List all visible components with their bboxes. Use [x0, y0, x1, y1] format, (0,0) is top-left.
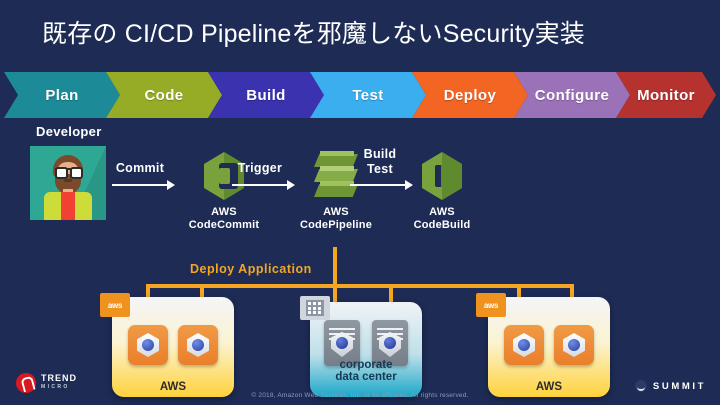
copyright-notice: © 2018, Amazon Web Services, Inc. or its…	[0, 392, 720, 399]
deep-security-agent-icon	[331, 332, 353, 357]
node-caption-line1: AWS	[394, 206, 490, 219]
pipeline-stage-label: Code	[144, 87, 183, 104]
instance-tile[interactable]	[128, 325, 168, 365]
deep-security-agent-icon	[513, 333, 535, 357]
pipeline-stage-deploy[interactable]: Deploy	[412, 72, 528, 118]
deep-security-agent-icon	[379, 332, 401, 357]
aws-badge-text: aws	[108, 301, 122, 310]
aws-codecommit-icon	[198, 150, 250, 202]
instance-tile[interactable]	[504, 325, 544, 365]
trigger-arrow-line	[232, 184, 288, 186]
deep-security-agent-icon	[137, 333, 159, 357]
pipeline-stage-label: Test	[352, 87, 383, 104]
pipeline-stage-label: Configure	[535, 87, 609, 104]
pipeline-stage-build[interactable]: Build	[208, 72, 324, 118]
node-caption-line2: CodeCommit	[176, 219, 272, 232]
commit-arrow-line	[112, 184, 168, 186]
pipeline-stage-test[interactable]: Test	[310, 72, 426, 118]
aws-badge-text: aws	[484, 301, 498, 310]
slide-canvas: 既存の CI/CD Pipelineを邪魔しないSecurity実装 Plan …	[0, 0, 720, 405]
summit-text: SUMMIT	[653, 381, 706, 392]
deep-security-agent-icon	[187, 333, 209, 357]
deploy-application-label: Deploy Application	[190, 262, 312, 276]
developer-avatar-icon	[30, 146, 106, 220]
pipeline-stage-monitor[interactable]: Monitor	[616, 72, 716, 118]
aws-logo-badge: aws	[100, 293, 130, 317]
node-caption-line1: AWS	[288, 206, 384, 219]
trend-micro-logo: TREND MICRO	[16, 373, 77, 393]
pipeline-stage-label: Monitor	[637, 87, 695, 104]
developer-label: Developer	[36, 124, 102, 139]
environment-aws-right[interactable]: AWS	[488, 297, 610, 397]
page-title: 既存の CI/CD Pipelineを邪魔しないSecurity実装	[42, 14, 682, 54]
pipeline-stage-plan[interactable]: Plan	[4, 72, 120, 118]
node-caption-line2: CodePipeline	[288, 219, 384, 232]
pipeline-stage-label: Build	[246, 87, 286, 104]
pipeline-stage-label: Plan	[45, 87, 78, 104]
deep-security-agent-icon	[563, 333, 585, 357]
building-icon	[300, 296, 330, 320]
trend-micro-name: TREND	[41, 373, 77, 383]
commit-arrow-label: Commit	[110, 162, 170, 175]
trend-micro-sub: MICRO	[41, 383, 77, 392]
environment-aws-left[interactable]: AWS	[112, 297, 234, 397]
trend-micro-mark-icon	[16, 373, 36, 393]
deploy-trunk-horizontal	[146, 284, 571, 288]
cicd-pipeline-bar: Plan Code Build Test Deploy Configure Mo…	[4, 72, 716, 118]
environment-label-line1: corporate	[310, 359, 422, 371]
aws-codebuild-node[interactable]: AWS CodeBuild	[394, 150, 490, 231]
aws-logo-badge: aws	[476, 293, 506, 317]
environment-label: corporate data center	[310, 359, 422, 383]
trigger-arrow-label: Trigger	[228, 162, 292, 175]
pipeline-stage-code[interactable]: Code	[106, 72, 222, 118]
instance-tile[interactable]	[554, 325, 594, 365]
environment-label-line2: data center	[310, 371, 422, 383]
instance-tile[interactable]	[178, 325, 218, 365]
deploy-trunk-vertical	[333, 247, 337, 287]
aws-summit-logo: SUMMIT	[635, 380, 706, 392]
pipeline-stage-label: Deploy	[444, 87, 496, 104]
summit-mark-icon	[635, 380, 647, 392]
pipeline-stage-configure[interactable]: Configure	[514, 72, 630, 118]
node-caption-line1: AWS	[176, 206, 272, 219]
aws-codebuild-icon	[416, 150, 468, 202]
commit-arrow-head	[167, 180, 175, 190]
node-caption-line2: CodeBuild	[394, 219, 490, 232]
